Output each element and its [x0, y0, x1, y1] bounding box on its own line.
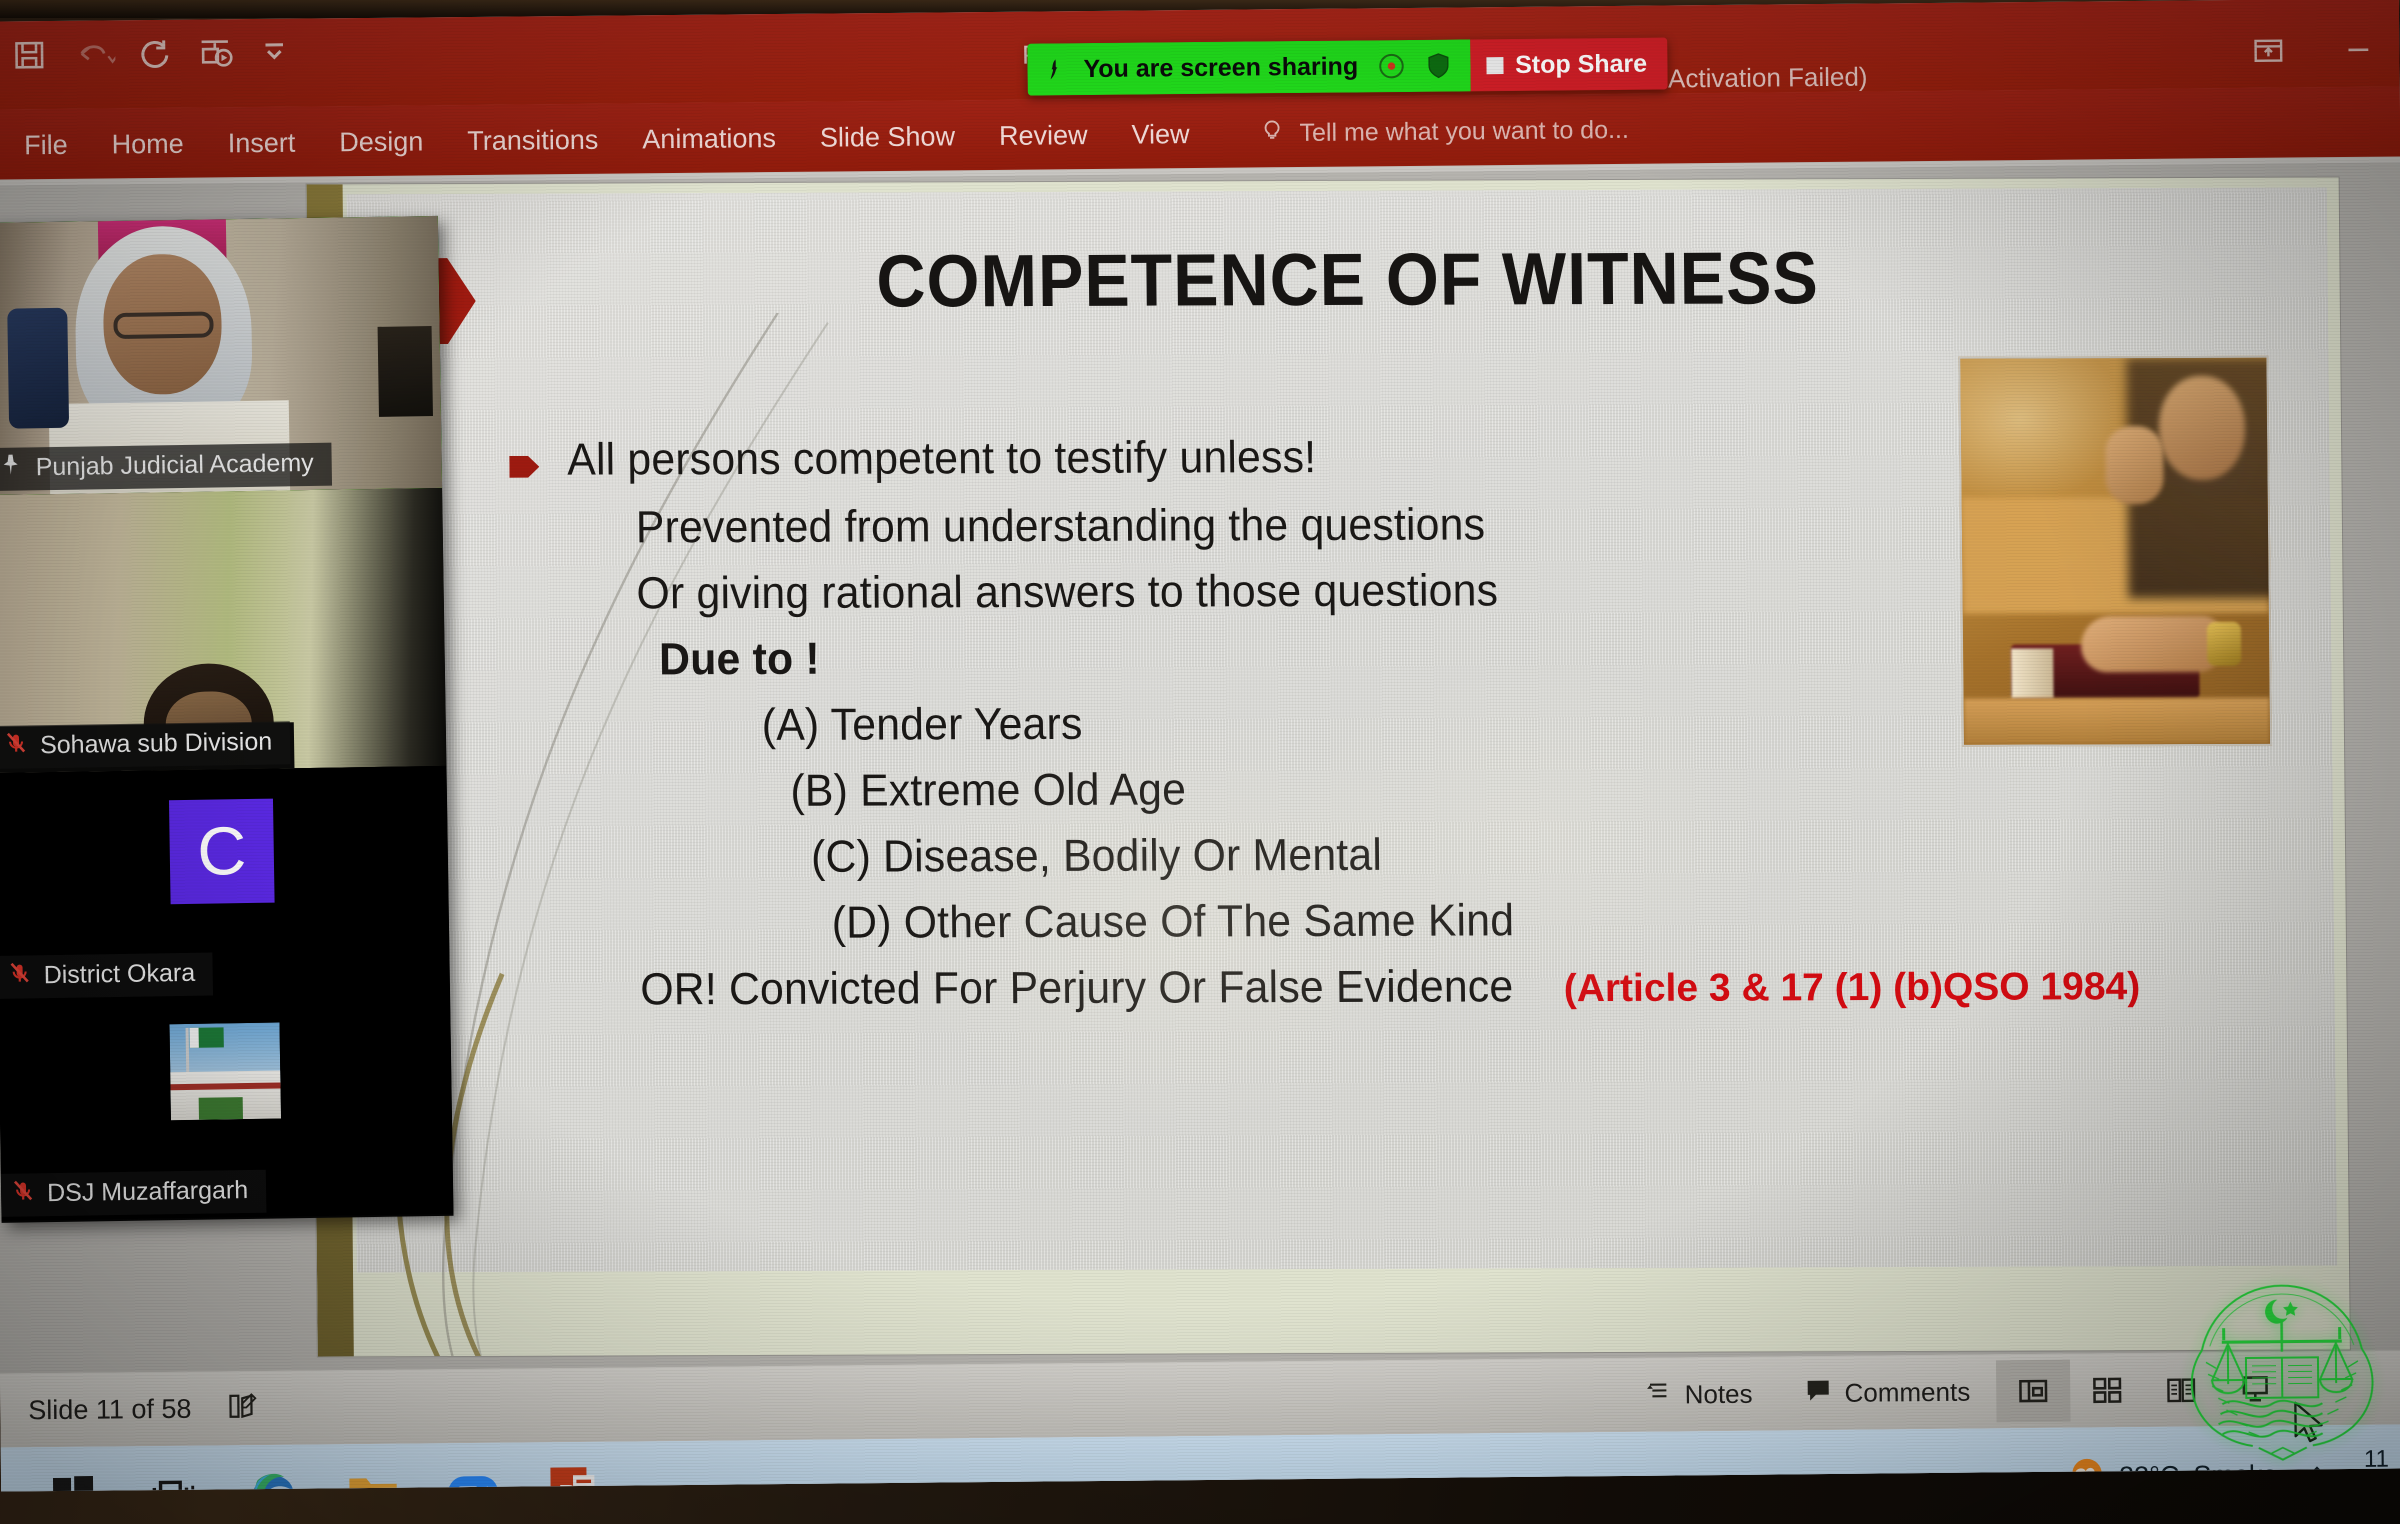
punjab-judicial-academy-logo-icon: [2161, 1274, 2400, 1466]
bullet-row: (D) Other Cause Of The Same Kind: [831, 892, 2114, 948]
participant-tile[interactable]: DSJ Muzaffargarh: [0, 996, 454, 1221]
participant-name: Sohawa sub Division: [40, 728, 273, 761]
slide-body: All persons competent to testify unless!…: [509, 428, 2115, 1016]
bullet-row: (A) Tender Years: [762, 694, 2113, 751]
avatar: C: [169, 799, 275, 905]
tab-file[interactable]: File: [24, 129, 68, 160]
bullet-text: (B) Extreme Old Age: [790, 763, 1186, 816]
spell-check-icon[interactable]: [225, 1390, 259, 1427]
participant-name: DSJ Muzaffargarh: [47, 1176, 248, 1208]
window-controls[interactable]: [2251, 33, 2375, 73]
screen-share-label: You are screen sharing: [1083, 52, 1358, 84]
bullet-text: (A) Tender Years: [762, 698, 1083, 751]
zoom-participant-strip[interactable]: Punjab Judicial Academy: [0, 216, 454, 1223]
tab-slide-show[interactable]: Slide Show: [820, 121, 955, 153]
mic-muted-icon: [11, 1177, 36, 1210]
tab-transitions[interactable]: Transitions: [467, 124, 598, 156]
stop-share-button[interactable]: Stop Share: [1470, 37, 1667, 91]
tab-insert[interactable]: Insert: [228, 127, 296, 159]
slide-sorter-view-button[interactable]: [2070, 1359, 2145, 1422]
participant-name-badge: District Okara: [0, 953, 213, 999]
mic-muted-icon: [4, 729, 29, 762]
tab-view[interactable]: View: [1131, 119, 1189, 151]
minimize-icon[interactable]: [2341, 33, 2375, 72]
participant-profile-photo: [169, 1023, 280, 1121]
zoom-mark-icon: [1041, 54, 1065, 84]
stop-share-label: Stop Share: [1515, 49, 1647, 79]
participant-name: Punjab Judicial Academy: [36, 449, 314, 482]
tell-me-search[interactable]: Tell me what you want to do...: [1259, 111, 1629, 152]
pin-icon: [0, 451, 24, 484]
participant-tile[interactable]: Punjab Judicial Academy: [0, 216, 442, 495]
participant-name-badge: Sohawa sub Division: [0, 721, 291, 769]
participant-tile[interactable]: C District Okara: [0, 766, 450, 1003]
comment-icon: [1804, 1375, 1832, 1410]
notes-button[interactable]: Notes: [1618, 1376, 1778, 1413]
participant-name-badge: Punjab Judicial Academy: [0, 443, 332, 491]
screen-share-status: You are screen sharing: [1027, 39, 1470, 95]
notes-icon: [1644, 1377, 1672, 1412]
bullet-row: (B) Extreme Old Age: [790, 760, 2113, 817]
bullet-text: Due to !: [659, 633, 820, 686]
participant-tile[interactable]: Sohawa sub Division: [0, 488, 446, 773]
lightbulb-icon: [1259, 115, 1285, 152]
bullet-row: (C) Disease, Bodily Or Mental: [811, 826, 2114, 883]
bullet-row-final: OR! Convicted For Perjury Or False Evide…: [640, 958, 2115, 1015]
final-line-text: OR! Convicted For Perjury Or False Evide…: [640, 960, 1513, 1015]
stop-square-icon: [1486, 57, 1503, 74]
bullet-row: Due to !: [659, 628, 2112, 685]
mic-muted-icon: [7, 959, 32, 992]
slide-title: COMPETENCE OF WITNESS: [703, 235, 1992, 324]
bullet-text: All persons competent to testify unless!: [567, 431, 1316, 486]
screen-share-banner[interactable]: You are screen sharing Stop Share: [1027, 37, 1667, 95]
tab-home[interactable]: Home: [112, 128, 184, 160]
bullet-row: Or giving rational answers to those ques…: [636, 562, 2111, 619]
bullet-text: Prevented from understanding the questio…: [636, 498, 1486, 553]
slide-counter: Slide 11 of 58: [28, 1393, 191, 1426]
comments-label: Comments: [1844, 1376, 1970, 1408]
bullet-row: Prevented from understanding the questio…: [636, 496, 2111, 553]
tab-review[interactable]: Review: [999, 120, 1088, 152]
bullet-text: Or giving rational answers to those ques…: [636, 564, 1498, 619]
normal-view-button[interactable]: [1996, 1360, 2071, 1423]
file-explorer-icon[interactable]: [345, 1465, 402, 1492]
participant-name: District Okara: [43, 959, 195, 990]
record-indicator-icon[interactable]: [1376, 51, 1406, 81]
tell-me-placeholder: Tell me what you want to do...: [1299, 115, 1629, 147]
bullet-text: (C) Disease, Bodily Or Mental: [811, 829, 1382, 883]
monitor-screen: Presentation on Recording of uct Activat…: [0, 0, 2400, 1492]
photograph-of-monitor: Presentation on Recording of uct Activat…: [0, 0, 2400, 1524]
slide-canvas: 11 COMPETENCE OF WITNESS All persons com…: [347, 187, 2337, 1272]
avatar-initial: C: [197, 812, 247, 891]
bullet-marker-icon: [509, 456, 539, 478]
current-slide[interactable]: 11 COMPETENCE OF WITNESS All persons com…: [307, 177, 2350, 1356]
security-shield-icon[interactable]: [1424, 51, 1452, 81]
notes-label: Notes: [1684, 1378, 1752, 1410]
bullet-row: All persons competent to testify unless!: [509, 428, 2110, 486]
participant-name-badge: DSJ Muzaffargarh: [1, 1170, 267, 1217]
edge-icon[interactable]: [245, 1466, 302, 1492]
start-icon[interactable]: [45, 1468, 102, 1492]
tab-design[interactable]: Design: [339, 126, 423, 158]
citation-text: (Article 3 & 17 (1) (b)QSO 1984): [1564, 965, 2141, 1010]
tab-animations[interactable]: Animations: [642, 123, 776, 155]
ribbon-display-options-icon[interactable]: [2251, 34, 2285, 73]
bullet-text: (D) Other Cause Of The Same Kind: [831, 894, 1514, 948]
courtroom-oath-image: [1958, 356, 2272, 747]
comments-button[interactable]: Comments: [1778, 1374, 1996, 1411]
task-view-icon[interactable]: [145, 1467, 202, 1492]
